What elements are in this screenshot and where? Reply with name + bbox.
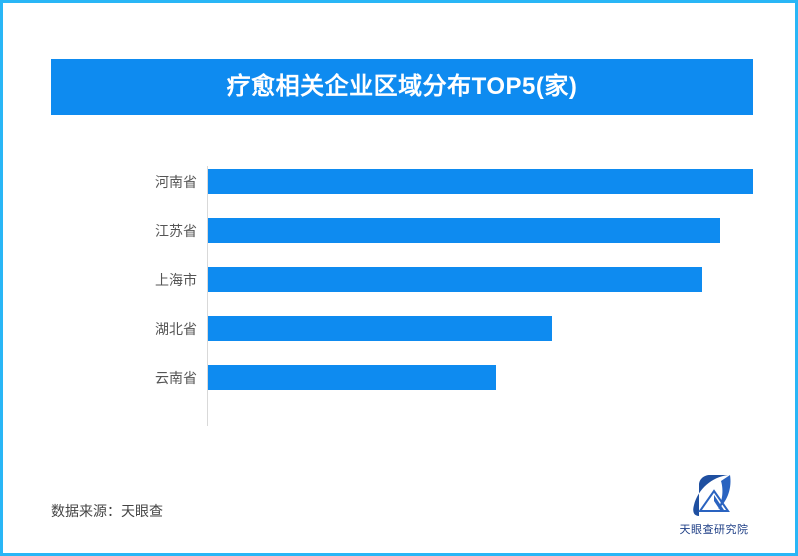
tianyancha-logo-icon: [688, 471, 740, 519]
bar-track: [208, 316, 753, 341]
bar-category-label: 云南省: [155, 368, 197, 388]
data-source-note: 数据来源：天眼查: [51, 501, 163, 521]
bar-row: 湖北省: [51, 316, 753, 341]
bar-fill: [208, 218, 720, 243]
bar-category-label: 上海市: [155, 270, 197, 290]
brand-logo: 天眼查研究院: [672, 471, 756, 543]
bar-row: 云南省: [51, 365, 753, 390]
bar-fill: [208, 365, 496, 390]
bar-chart: 河南省 江苏省 上海市 湖北省 云南省: [51, 153, 753, 428]
bar-fill: [208, 316, 552, 341]
infographic-card: 疗愈相关企业区域分布TOP5(家) 河南省 江苏省 上海市 湖北省: [0, 0, 798, 556]
bar-category-label: 江苏省: [155, 221, 197, 241]
bar-fill: [208, 169, 753, 194]
bar-row: 上海市: [51, 267, 753, 292]
title-banner: 疗愈相关企业区域分布TOP5(家): [51, 59, 753, 115]
bar-track: [208, 365, 753, 390]
bar-track: [208, 267, 753, 292]
brand-name-label: 天眼查研究院: [672, 521, 756, 537]
bar-track: [208, 218, 753, 243]
bar-category-label: 河南省: [155, 172, 197, 192]
bar-row: 河南省: [51, 169, 753, 194]
bar-category-label: 湖北省: [155, 319, 197, 339]
bar-row: 江苏省: [51, 218, 753, 243]
bar-fill: [208, 267, 702, 292]
page-title: 疗愈相关企业区域分布TOP5(家): [227, 75, 578, 99]
bar-track: [208, 169, 753, 194]
